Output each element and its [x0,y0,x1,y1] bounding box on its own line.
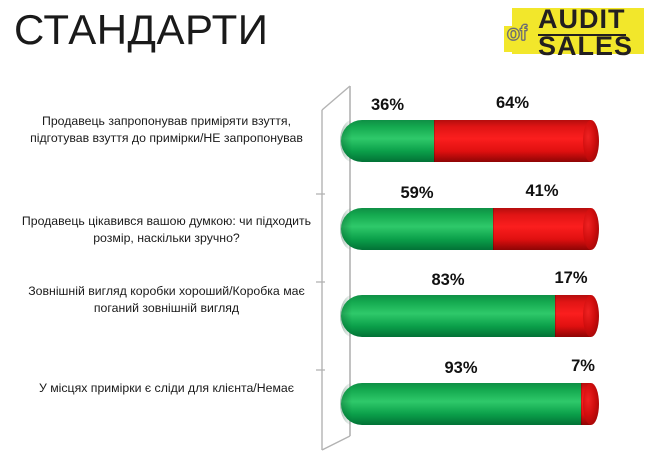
bar-1-value-yes: 36% [341,96,434,115]
stacked-bar-chart: Продавець запропонував приміряти взуття,… [0,72,646,456]
bar-3-value-no: 17% [541,269,601,288]
category-label-4: У місцях примірки є сліди для клієнта/Не… [14,380,319,397]
bar-2-segment-yes [341,208,493,250]
bar-row-1 [341,120,599,162]
bar-3-value-yes: 83% [341,271,555,290]
bar-2-end-cap [583,208,599,250]
bar-4-value-yes: 93% [341,359,581,378]
bar-2-divider [493,208,494,250]
category-label-3: Зовнішній вигляд коробки хороший/Коробка… [14,283,319,317]
bar-4-divider [581,383,582,425]
bar-1-end-cap [583,120,599,162]
category-label-1: Продавець запропонував приміряти взуття,… [14,113,319,147]
bar-1-segment-no [434,120,591,162]
bar-1-divider [434,120,435,162]
bar-row-2 [341,208,599,250]
bar-3-segment-yes [341,295,555,337]
bar-row-4 [341,383,599,425]
bar-1-segment-yes [341,120,434,162]
page-title: СТАНДАРТИ [14,6,268,54]
bar-1-value-no: 64% [434,94,591,113]
logo-sales-text: SALES [538,33,633,60]
bar-2-value-no: 41% [493,182,591,201]
category-label-2: Продавець цікавився вашою думкою: чи під… [14,213,319,247]
bar-3-divider [555,295,556,337]
bar-4-end-cap [583,383,599,425]
logo-of-text: of [507,23,527,44]
bar-4-segment-yes [341,383,581,425]
bar-2-segment-no [493,208,591,250]
bar-row-3 [341,295,599,337]
bar-3-end-cap [583,295,599,337]
audit-of-sales-logo: of AUDIT SALES [502,6,644,58]
bar-2-value-yes: 59% [341,184,493,203]
bar-4-value-no: 7% [560,357,606,376]
